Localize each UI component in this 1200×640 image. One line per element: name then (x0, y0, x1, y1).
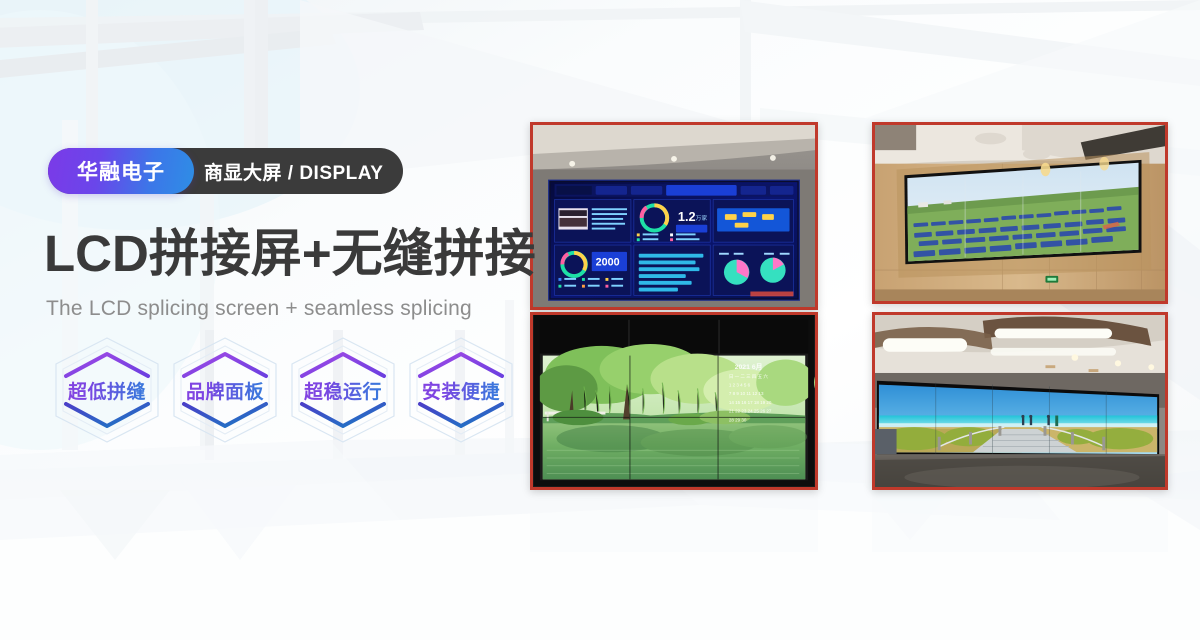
page-title: LCD拼接屏+无缝拼接 (44, 226, 536, 282)
brand-badge: 商显大屏 / DISPLAY 华融电子 (48, 148, 403, 194)
svg-text:1 2 3 4 5 6: 1 2 3 4 5 6 (729, 383, 751, 388)
svg-text:万家: 万家 (696, 214, 708, 222)
svg-text:2021 6月: 2021 6月 (735, 363, 763, 371)
brand-pill-label: 华融电子 (77, 156, 165, 186)
feature-label-2: 品牌面板 (166, 332, 284, 448)
svg-text:28 29 30: 28 29 30 (729, 417, 747, 422)
photo-dashboard-video-wall: 1.2 万家 (530, 122, 818, 310)
svg-text:日 一 二 三 四 五 六: 日 一 二 三 四 五 六 (729, 373, 769, 380)
svg-text:14 15 16 17 18 19 20: 14 15 16 17 18 19 20 (729, 400, 772, 405)
feature-item-1: 超低拼缝 (48, 332, 166, 448)
banner-stage: 商显大屏 / DISPLAY 华融电子 LCD拼接屏+无缝拼接 The LCD … (0, 0, 1200, 640)
category-badge: 商显大屏 / DISPLAY 华融电子 (48, 148, 403, 194)
feature-label-4: 安装便捷 (402, 332, 520, 448)
feature-label-1: 超低拼缝 (48, 332, 166, 448)
photo-beach-boardwalk-video-wall (872, 312, 1168, 490)
category-label: 商显大屏 / DISPLAY (204, 158, 383, 185)
page-subtitle: The LCD splicing screen + seamless splic… (46, 297, 472, 321)
feature-item-3: 超稳运行 (284, 332, 402, 448)
feature-item-4: 安装便捷 (402, 332, 520, 448)
feature-list: 超低拼缝 品牌面板 超稳运行 (48, 332, 520, 448)
feature-item-2: 品牌面板 (166, 332, 284, 448)
photo-solar-farm-video-wall (872, 122, 1168, 304)
svg-text:21 22 23 24 25 26 27: 21 22 23 24 25 26 27 (729, 409, 772, 414)
photo-park-lake-video-wall: 2021 6月 日 一 二 三 四 五 六 1 2 3 4 5 6 7 8 9 … (530, 312, 818, 490)
svg-text:2000: 2000 (596, 256, 620, 268)
svg-text:1.2: 1.2 (678, 210, 696, 224)
svg-text:7 8 9 10 11 12 13: 7 8 9 10 11 12 13 (729, 391, 764, 396)
brand-pill: 华融电子 (48, 148, 194, 194)
feature-label-3: 超稳运行 (284, 332, 402, 448)
